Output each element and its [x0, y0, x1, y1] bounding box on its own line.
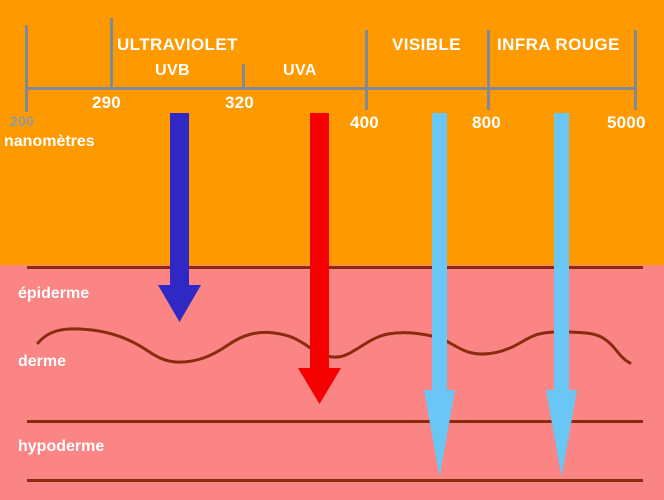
infrared-ray[interactable]	[546, 113, 577, 477]
visible-ray[interactable]	[424, 113, 455, 477]
skin-penetration-diagram: 200 290 320 400 800 5000 ULTRAVIOLET UVB…	[0, 0, 664, 500]
uva-ray[interactable]	[298, 113, 341, 404]
uvb-ray[interactable]	[158, 113, 201, 322]
